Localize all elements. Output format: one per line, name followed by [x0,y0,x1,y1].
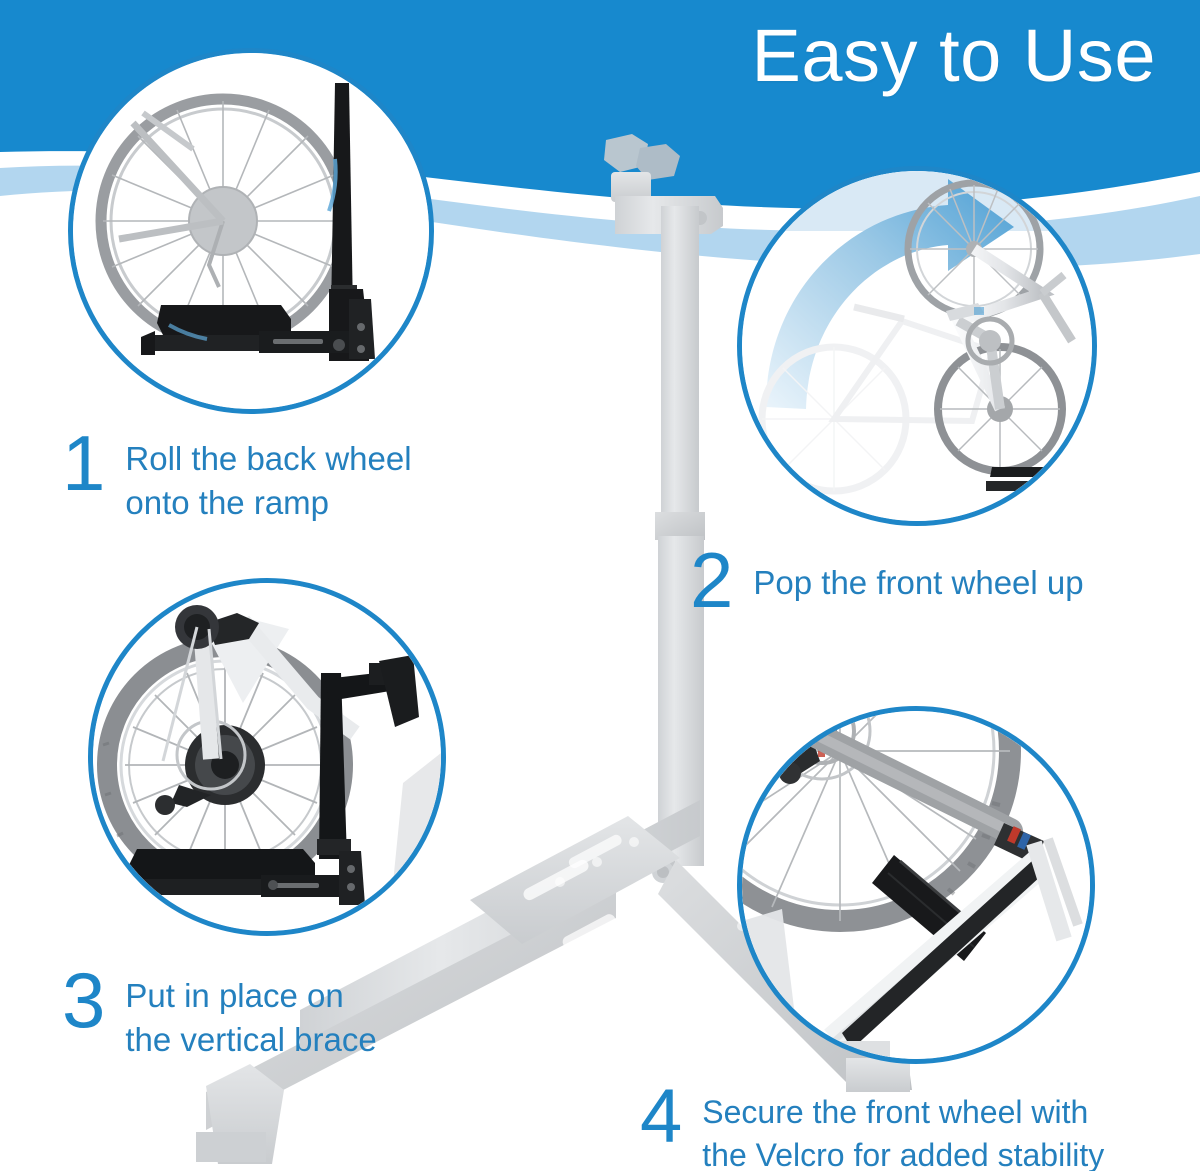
step-3-caption: 3 Put in place on the vertical brace [62,965,377,1062]
product-infographic: Easy to Use [0,0,1200,1171]
step-2-text: Pop the front wheel up [753,545,1083,605]
step-1-text: Roll the back wheel onto the ramp [125,428,411,525]
step-3-photo-circle [88,578,446,936]
step-4-photo-circle [737,706,1095,1064]
step-2-photo-circle [737,166,1097,526]
step-4-illustration [742,711,1090,1059]
step-3-text: Put in place on the vertical brace [125,965,376,1062]
step-3-illustration [93,583,441,931]
step-4-caption: 4 Secure the front wheel with the Velcro… [640,1082,1104,1171]
step-1-caption: 1 Roll the back wheel onto the ramp [62,428,412,525]
step-2-number: 2 [690,545,733,617]
page-title: Easy to Use [752,12,1156,99]
step-1-photo-circle [68,48,434,414]
step-1-illustration [73,53,429,409]
step-2-illustration [742,171,1092,521]
step-4-text: Secure the front wheel with the Velcro f… [702,1082,1104,1171]
step-2-caption: 2 Pop the front wheel up [690,545,1084,617]
step-3-number: 3 [62,965,105,1037]
step-4-number: 4 [640,1082,682,1152]
step-1-number: 1 [62,428,105,500]
